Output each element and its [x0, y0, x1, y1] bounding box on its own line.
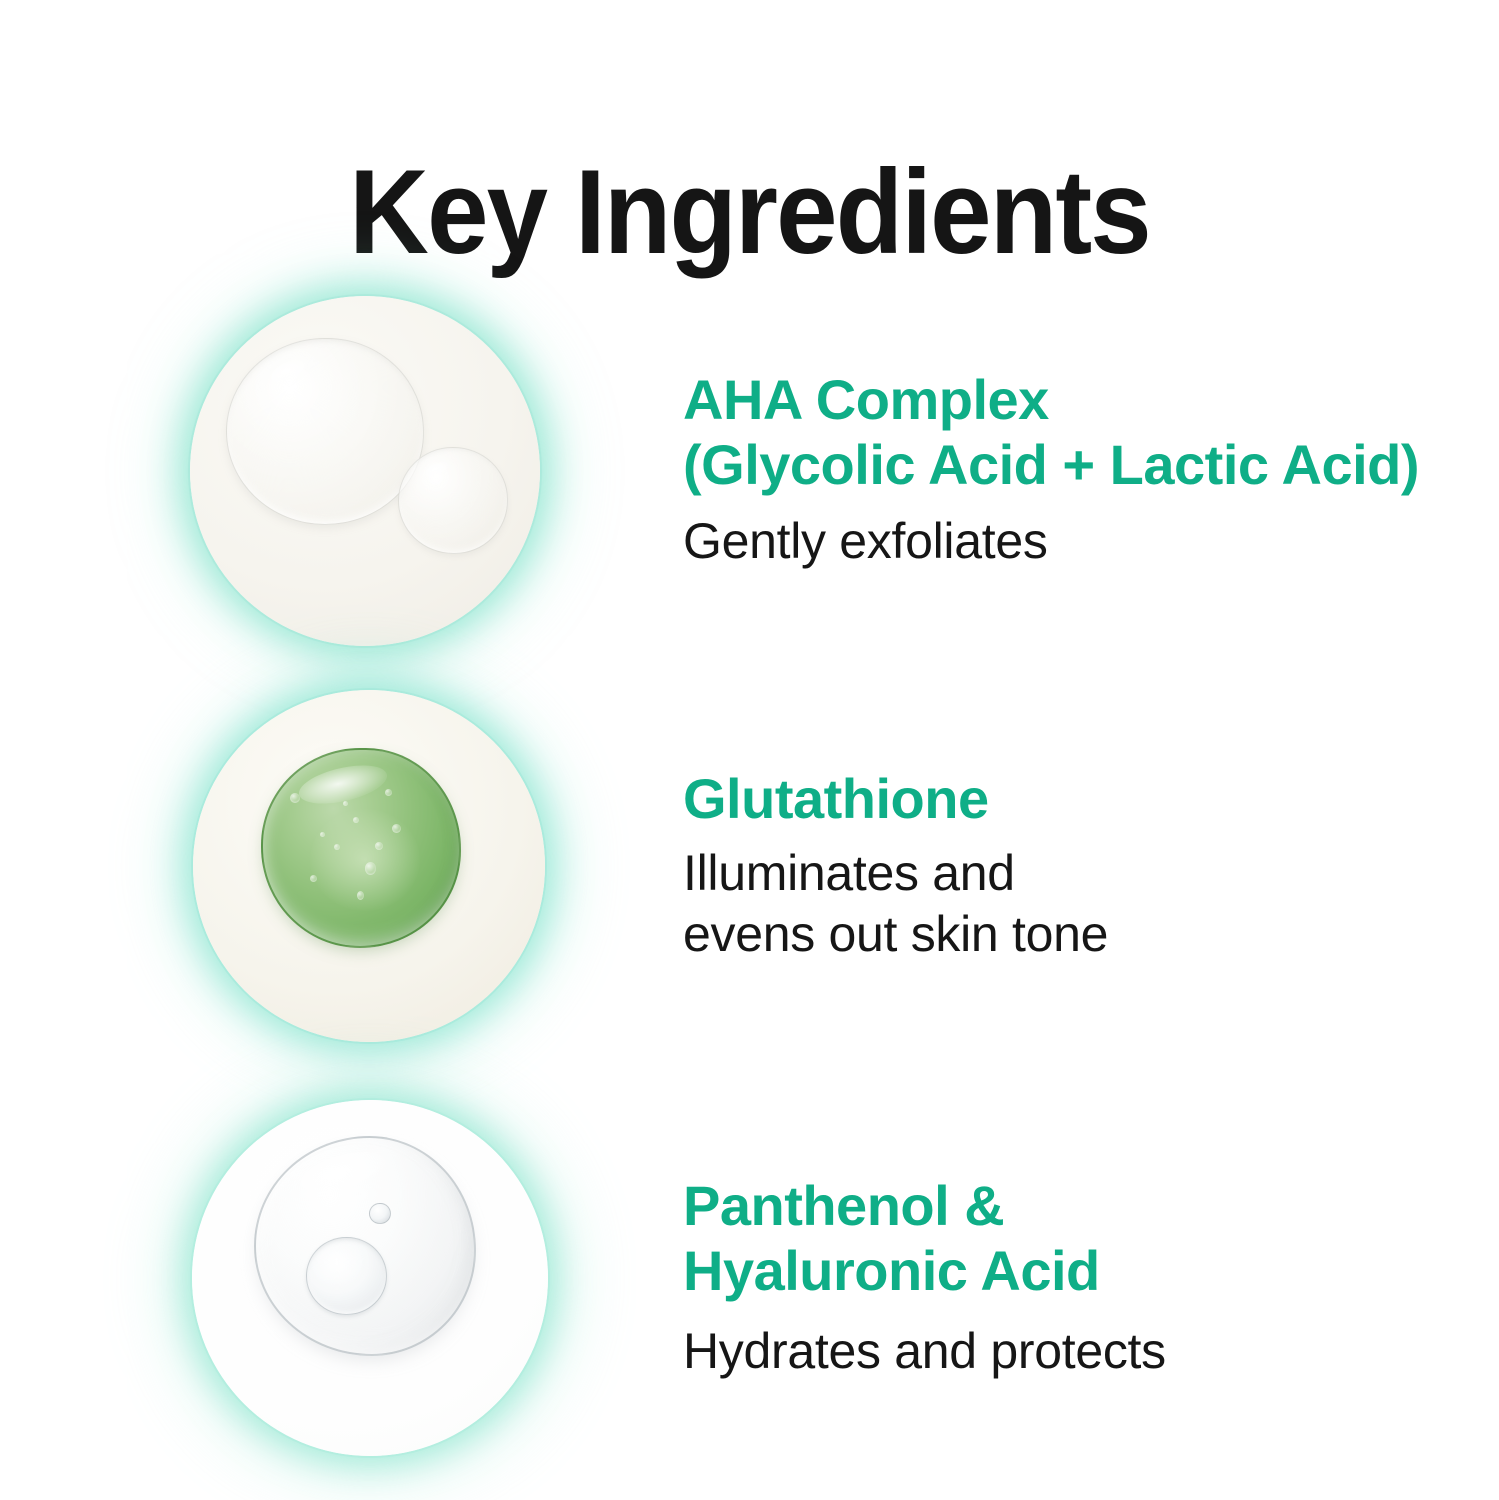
tiny-bubble-icon	[369, 1203, 391, 1224]
gel-bubble	[290, 793, 300, 803]
ingredient-text-glutathione: Glutathione Illuminates and evens out sk…	[560, 767, 1499, 966]
ingredient-visual-panthenol	[0, 1088, 560, 1468]
droplet-highlight	[297, 1144, 390, 1201]
panthenol-swatch-inner	[192, 1100, 548, 1456]
ingredient-text-panthenol: Panthenol & Hyaluronic Acid Hydrates and…	[560, 1174, 1499, 1383]
gel-bubble	[365, 862, 376, 875]
gel-bubble	[385, 789, 392, 796]
gel-bubble	[353, 817, 359, 823]
ingredient-name-panthenol-hyaluronic-acid: Panthenol & Hyaluronic Acid	[683, 1174, 1499, 1304]
gel-bubble	[334, 844, 340, 850]
ingredient-row-glutathione: Glutathione Illuminates and evens out sk…	[0, 686, 1499, 1046]
large-clear-droplet-icon	[254, 1136, 476, 1356]
ingredient-visual-aha	[0, 290, 560, 650]
gel-core-glow	[310, 809, 420, 911]
page-title: Key Ingredients	[60, 152, 1439, 272]
aha-droplets-swatch-icon	[190, 296, 540, 646]
glutathione-swatch-inner	[193, 690, 545, 1042]
gel-bubble	[343, 801, 348, 806]
ingredient-text-aha: AHA Complex (Glycolic Acid + Lactic Acid…	[560, 368, 1499, 573]
gel-bubble	[375, 842, 383, 850]
large-clear-droplet-icon	[226, 338, 424, 525]
ingredient-description-glutathione: Illuminates and evens out skin tone	[683, 843, 1499, 965]
ingredient-name-aha-complex: AHA Complex (Glycolic Acid + Lactic Acid…	[683, 368, 1499, 498]
small-clear-droplet-icon	[398, 447, 508, 554]
green-gel-droplet-icon	[261, 748, 461, 948]
ingredient-row-panthenol-hyaluronic-acid: Panthenol & Hyaluronic Acid Hydrates and…	[0, 1088, 1499, 1468]
ingredient-description-aha-complex: Gently exfoliates	[683, 511, 1499, 572]
aha-swatch-inner	[190, 296, 540, 646]
ingredient-row-aha-complex: AHA Complex (Glycolic Acid + Lactic Acid…	[0, 290, 1499, 650]
glutathione-green-gel-swatch-icon	[193, 690, 545, 1042]
panthenol-clear-droplet-swatch-icon	[192, 1100, 548, 1456]
ingredient-name-glutathione: Glutathione	[683, 767, 1499, 832]
ingredient-visual-glutathione	[0, 686, 560, 1046]
inner-droplet-icon	[306, 1237, 386, 1315]
ingredient-description-panthenol-hyaluronic-acid: Hydrates and protects	[683, 1321, 1499, 1382]
